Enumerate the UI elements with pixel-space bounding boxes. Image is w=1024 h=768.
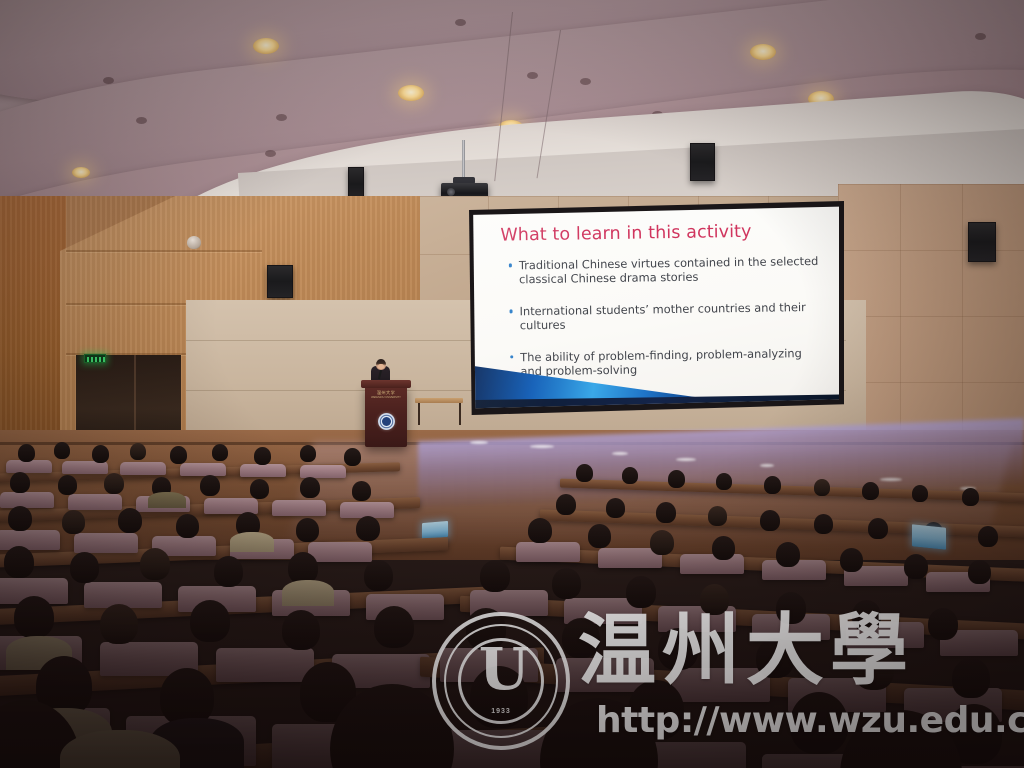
audience-head [14, 596, 54, 638]
table-leg [459, 403, 461, 425]
podium-english-label: WENZHOU UNIVERSITY [369, 396, 403, 400]
slide-title: What to learn in this activity [500, 222, 751, 246]
ceiling-speaker [348, 167, 364, 201]
seat-back [180, 463, 226, 476]
seat-back [0, 492, 54, 508]
audience-head [862, 482, 879, 500]
audience-head [708, 506, 727, 526]
seat-back [272, 500, 326, 516]
audience-head [576, 464, 593, 482]
left-wall-dark-panel [0, 196, 66, 454]
audience-head [852, 600, 881, 631]
audience-head [344, 448, 361, 466]
ceiling-recess [455, 19, 466, 26]
presenter-face [378, 364, 384, 369]
ceiling-downlight [398, 85, 424, 101]
audience-head [58, 475, 77, 495]
audience-head [658, 628, 698, 670]
audience-head [374, 606, 414, 648]
ceiling-recess [975, 33, 986, 40]
audience-head [480, 560, 510, 592]
audience-shoulders [148, 492, 186, 508]
audience-head [622, 467, 638, 484]
audience-shoulders [230, 532, 274, 552]
lecture-hall-photo: 温州大学 WENZHOU UNIVERSITY What to learn in… [0, 0, 1024, 768]
presenter-head [376, 359, 386, 370]
projection-screen[interactable]: What to learn in this activity Tradition… [471, 206, 839, 409]
audience-head [118, 508, 142, 533]
audience-head [756, 638, 794, 678]
audience-head [4, 546, 34, 578]
audience-head [668, 470, 685, 488]
audience-head [18, 444, 35, 462]
audience-head [650, 530, 674, 555]
audience-head [552, 568, 581, 599]
audience-head [470, 666, 528, 728]
seat-back [120, 462, 166, 475]
audience-head [282, 610, 320, 650]
audience-head [790, 692, 848, 754]
audience-head [364, 560, 393, 591]
audience-head [904, 554, 928, 579]
audience-head [250, 479, 269, 499]
slide-bullet-item: International students’ mother countries… [509, 300, 821, 333]
audience-head [854, 648, 894, 690]
ceiling-downlight [72, 167, 90, 178]
ceiling-recess [136, 117, 147, 124]
seat-back [240, 464, 286, 477]
ceiling-recess [265, 150, 276, 157]
left-wall-speaker [267, 265, 293, 298]
audience-head [626, 576, 656, 608]
audience-head [562, 618, 600, 658]
exit-sign-icon [84, 354, 106, 363]
audience-head [140, 548, 170, 580]
ceiling-speaker [690, 143, 715, 181]
audience-head [352, 481, 371, 501]
audience-head [868, 518, 888, 539]
audience-head [814, 514, 833, 534]
projector-lens [447, 188, 455, 196]
seat-back [300, 465, 346, 478]
ceiling-recess [580, 78, 591, 85]
audience-head [700, 584, 729, 615]
seat-back [0, 530, 60, 550]
audience-head [100, 604, 138, 644]
audience-head [54, 442, 70, 459]
audience-head [978, 526, 998, 547]
audience-head [776, 542, 800, 567]
right-wall-speaker [968, 222, 996, 262]
audience-head [300, 445, 316, 462]
audience-head [200, 475, 220, 496]
audience-head [776, 592, 806, 624]
audience-head [588, 524, 611, 548]
audience-head [952, 658, 990, 698]
audience-head [8, 506, 32, 531]
audience-head [190, 600, 230, 642]
audience-head [70, 552, 99, 583]
audience-head [176, 514, 199, 538]
audience-head [466, 608, 506, 650]
ceiling-recess [276, 114, 287, 121]
audience-seating [0, 430, 1024, 768]
audience-head [300, 477, 320, 498]
audience-head [556, 494, 576, 515]
seat-back [68, 494, 122, 510]
ceiling-recess [527, 72, 538, 79]
laptop-screen[interactable] [912, 524, 946, 550]
audience-head [130, 443, 146, 460]
audience-head [296, 518, 319, 542]
audience-head [962, 488, 979, 506]
audience-head [712, 536, 735, 560]
slide-content: What to learn in this activity Tradition… [471, 206, 839, 409]
audience-head [254, 447, 271, 465]
audience-head [968, 560, 991, 584]
audience-head [10, 472, 30, 493]
wall-seam [66, 250, 262, 252]
audience-head [62, 510, 85, 534]
audience-head [528, 518, 552, 543]
audience-head [764, 476, 781, 494]
seat-back [216, 648, 314, 682]
audience-head [928, 608, 958, 640]
table-leg [418, 403, 420, 425]
ceiling-recess [103, 77, 114, 84]
audience-shoulders [282, 580, 334, 606]
ceiling-downlight [750, 44, 776, 60]
audience-head [170, 446, 187, 464]
slide-bullet-item: The ability of problem-finding, problem-… [510, 345, 822, 378]
seat-back [672, 668, 770, 702]
audience-head [814, 479, 830, 496]
security-camera-icon [187, 236, 201, 249]
podium-seal-icon [378, 413, 395, 430]
slide-bullet-item: Traditional Chinese virtues contained in… [509, 254, 821, 287]
audience-head [840, 548, 863, 572]
podium-top [361, 380, 411, 388]
stage-table [415, 398, 463, 403]
seat-back [6, 460, 52, 473]
slide-bullet-list: Traditional Chinese virtues contained in… [509, 254, 823, 396]
seat-back [680, 554, 744, 574]
audience-head [212, 444, 228, 461]
audience-head [606, 498, 625, 518]
audience-head [716, 473, 732, 490]
ceiling-downlight [253, 38, 279, 54]
wood-slat-texture [0, 196, 66, 454]
audience-head [656, 502, 676, 523]
audience-head [92, 445, 109, 463]
audience-head [214, 556, 243, 587]
audience-head [356, 516, 380, 541]
seat-back [308, 542, 372, 562]
seat-back [516, 542, 580, 562]
audience-head [760, 510, 780, 531]
audience-head [912, 485, 928, 502]
seat-back [74, 533, 138, 553]
audience-head [104, 473, 124, 494]
